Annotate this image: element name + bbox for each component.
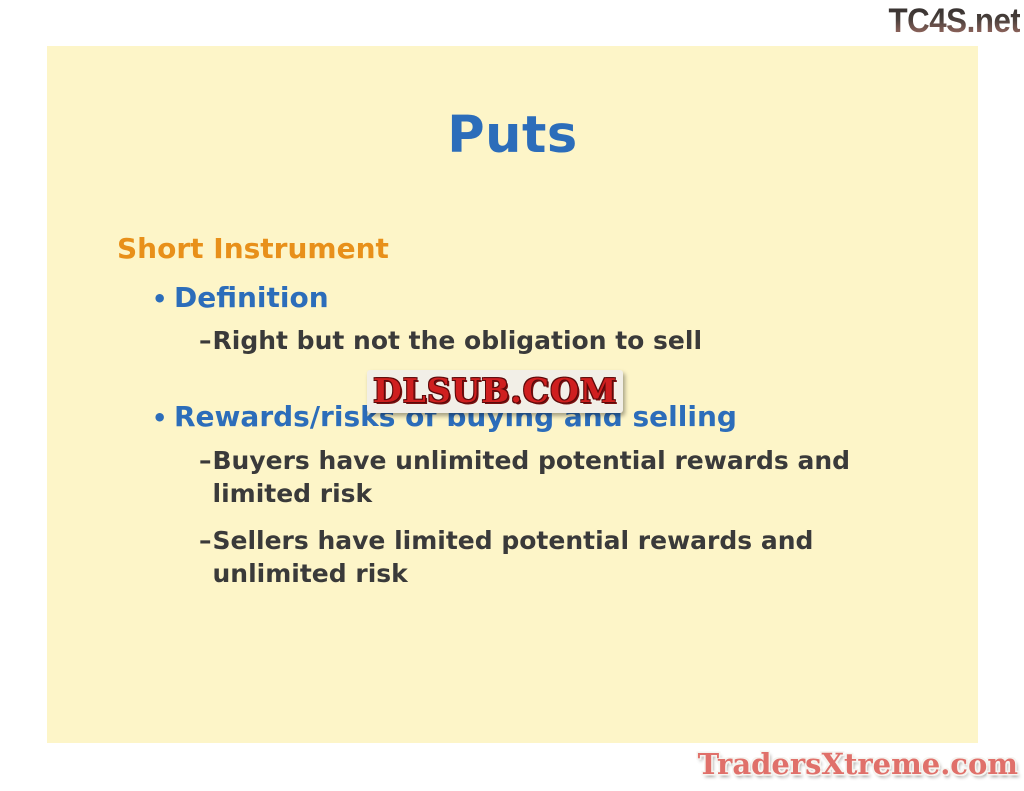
outline-level3-label: Sellers have limited potential rewards a… xyxy=(213,524,900,590)
brand-logo-tradersxtreme: TradersXtreme.com xyxy=(698,747,1018,781)
bullet-dash-icon: – xyxy=(199,524,212,557)
bullet-dot-icon: • xyxy=(152,406,174,430)
slide-title: Puts xyxy=(47,106,978,165)
outline-level3-item: – Sellers have limited potential rewards… xyxy=(199,524,899,590)
dlsub-watermark: DLSUB.COM xyxy=(367,370,623,413)
bullet-dot-icon: • xyxy=(152,287,174,311)
outline-level2-item: • Definition xyxy=(152,280,978,316)
outline-level2-label: Definition xyxy=(174,280,329,316)
bullet-dash-icon: – xyxy=(199,444,212,477)
bullet-dash-icon: – xyxy=(199,324,212,357)
outline-level3-item: – Buyers have unlimited potential reward… xyxy=(199,444,899,510)
outline-level1-heading: Short Instrument xyxy=(117,231,978,266)
outline-level3-label: Right but not the obligation to sell xyxy=(213,324,900,357)
site-logo-tc4s: TC4S.net xyxy=(888,2,1020,41)
presentation-slide: Puts Short Instrument • Definition – Rig… xyxy=(47,46,978,743)
outline-level3-item: – Right but not the obligation to sell xyxy=(199,324,899,357)
outline-level3-label: Buyers have unlimited potential rewards … xyxy=(213,444,900,510)
